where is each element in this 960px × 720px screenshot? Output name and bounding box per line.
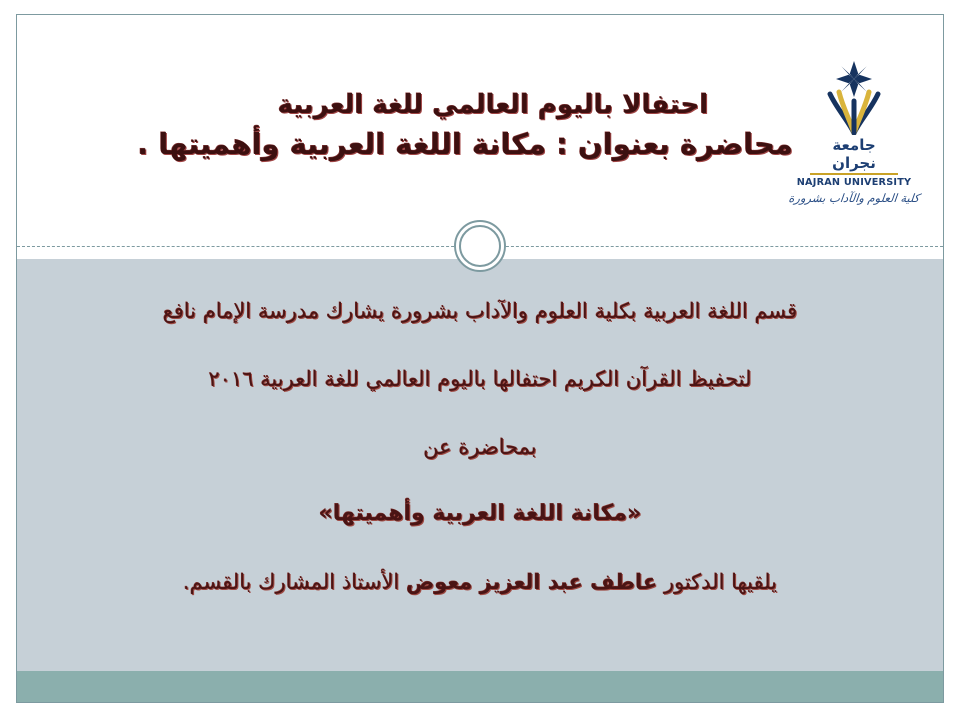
presentation-slide: احتفالا باليوم العالمي للغة العربية محاض… (16, 14, 944, 703)
slide-title-line-1: احتفالا باليوم العالمي للغة العربية (193, 87, 793, 124)
logo-english-name: NAJRAN UNIVERSITY (786, 177, 923, 188)
speaker-title: الأستاذ المشارك بالقسم. (183, 570, 406, 594)
najran-university-logo: جامعة نجران NAJRAN UNIVERSITY كلية العلو… (787, 61, 921, 209)
body-line-5: يلقيها الدكتور عاطف عبد العزيز معوض الأس… (17, 570, 943, 594)
logo-arabic-name: جامعة نجران (810, 136, 898, 175)
body-line-1: قسم اللغة العربية بكلية العلوم والآداب ب… (17, 299, 943, 323)
speaker-prefix: يلقيها الدكتور (657, 570, 777, 594)
body-line-3: بمحاضرة عن (17, 435, 943, 459)
slide-footer-bar (17, 671, 943, 702)
slide-body-region: قسم اللغة العربية بكلية العلوم والآداب ب… (17, 259, 943, 673)
university-emblem-icon (815, 61, 893, 135)
body-line-2: لتحفيظ القرآن الكريم احتفالها باليوم الع… (17, 367, 943, 391)
lecture-title-quoted: «مكانة اللغة العربية وأهميتها» (17, 501, 943, 526)
logo-college-name: كلية العلوم والآداب بشرورة (786, 191, 921, 205)
slide-title-block: احتفالا باليوم العالمي للغة العربية محاض… (193, 87, 793, 165)
double-ring-ornament (454, 220, 506, 272)
slide-body-text: قسم اللغة العربية بكلية العلوم والآداب ب… (17, 299, 943, 594)
slide-header-region: احتفالا باليوم العالمي للغة العربية محاض… (17, 15, 943, 247)
speaker-name: عاطف عبد العزيز معوض (406, 570, 657, 594)
slide-title-line-2: محاضرة بعنوان : مكانة اللغة العربية وأهم… (193, 124, 793, 165)
